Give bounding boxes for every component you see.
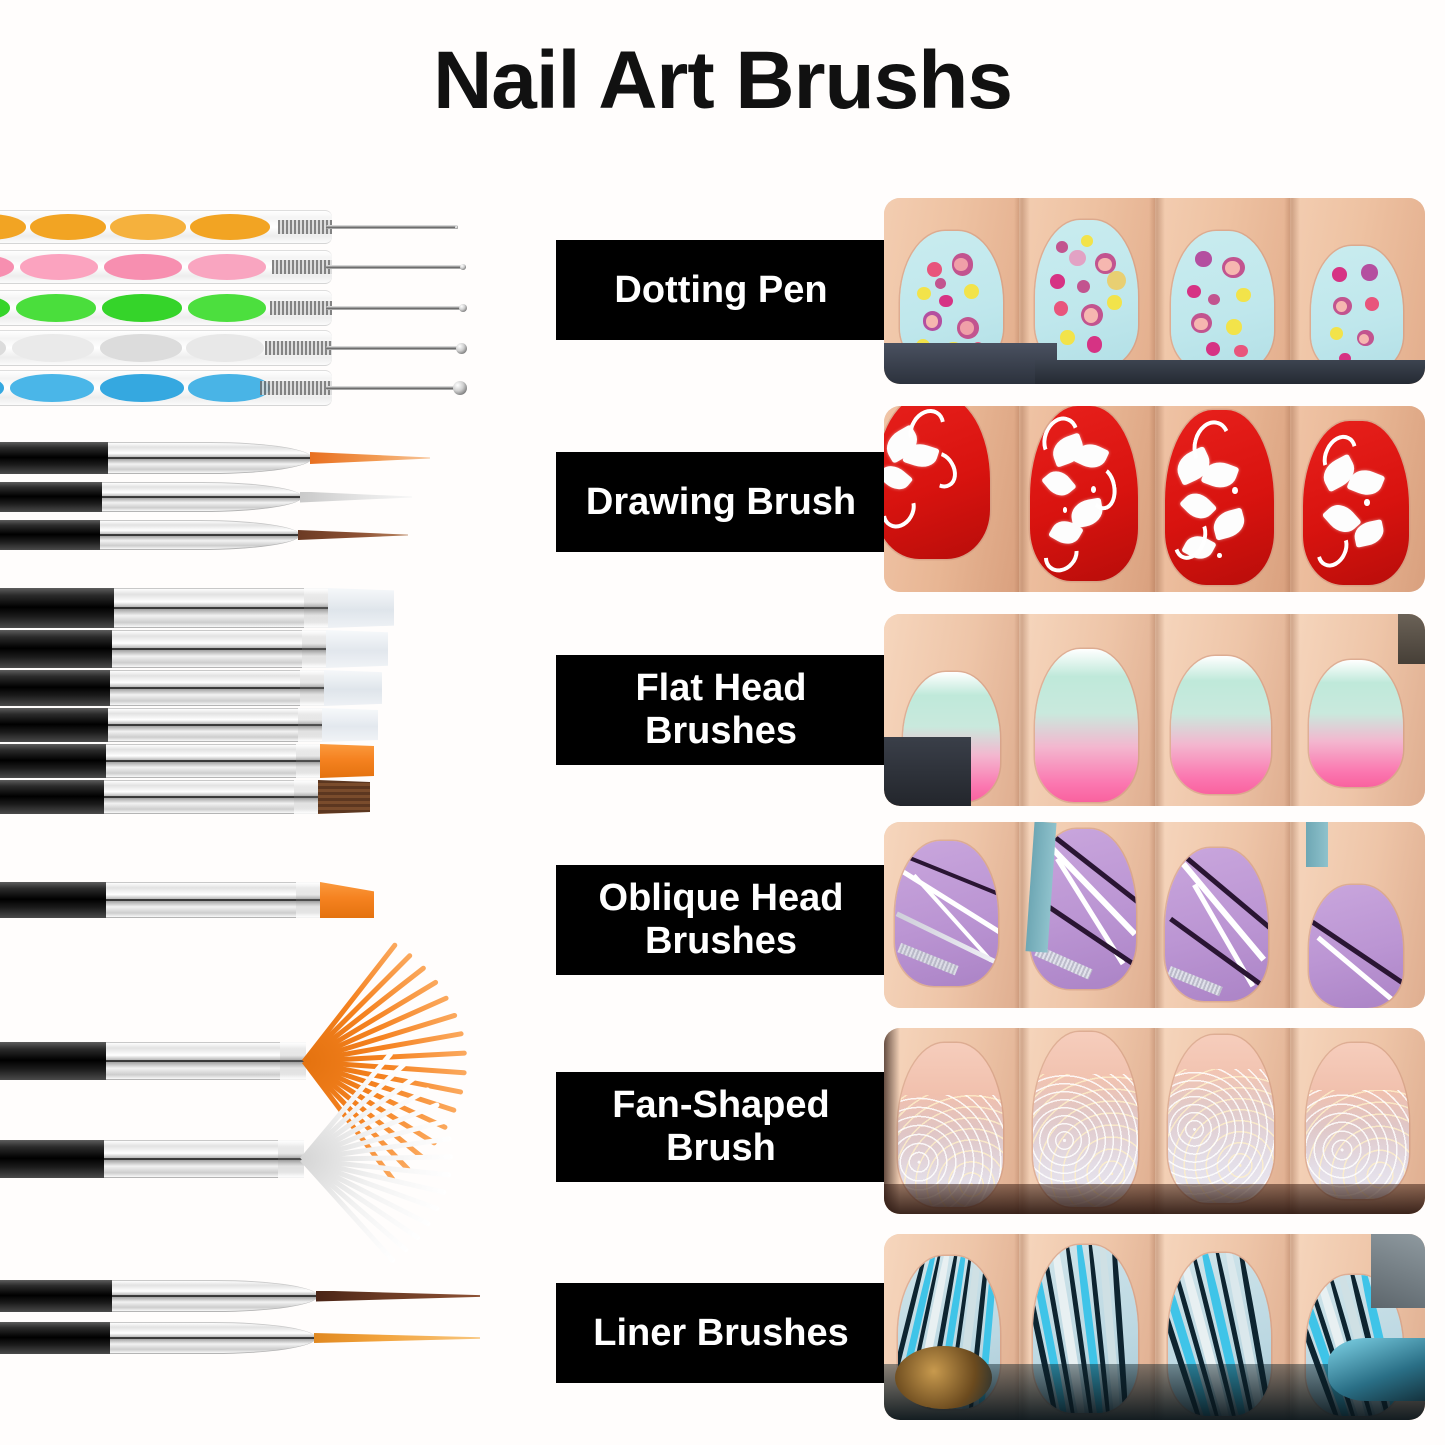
pen-ball-tip-4: [456, 343, 467, 354]
finger: [1019, 406, 1154, 592]
brush-ferrule: [106, 744, 322, 778]
drawing-brush-2: [0, 482, 450, 512]
flat-brush-4: [0, 708, 440, 742]
brush-handle: [0, 780, 108, 814]
label-text: Drawing Brush: [586, 481, 856, 524]
photo-column: [884, 190, 1425, 1425]
dotting-pen-4: [0, 330, 480, 366]
fan-brush-2: [0, 1140, 460, 1178]
dotting-pen-2: [0, 250, 480, 284]
brush-ferrule: [100, 520, 300, 550]
brush-bristle-tip: [300, 492, 412, 503]
photo-fan-shaped-brush-nails: [884, 1028, 1425, 1214]
photo-drawing-brush-nails: [884, 406, 1425, 592]
brush-handle: [0, 1280, 116, 1312]
liner-brush-2: [0, 1322, 480, 1354]
flat-brush-head: [326, 630, 388, 668]
brush-handle: [0, 1042, 110, 1080]
brush-ferrule: [104, 1140, 304, 1178]
brush-bristle-tip: [298, 530, 408, 540]
infographic-page: Nail Art Brushs: [0, 0, 1445, 1445]
brush-handle: [0, 744, 110, 778]
brush-ferrule: [108, 442, 312, 474]
liner-brush-1: [0, 1280, 480, 1312]
brush-handle: [0, 588, 118, 628]
label-drawing-brush: Drawing Brush: [556, 452, 886, 552]
brush-ferrule: [106, 1042, 306, 1080]
pen-shaft: [326, 225, 458, 229]
drawing-brush-illustrations: [0, 438, 545, 568]
pen-twist-core: [0, 374, 270, 401]
flat-brush-2: [0, 630, 440, 668]
label-dotting-pen: Dotting Pen: [556, 240, 886, 340]
brush-handle: [0, 520, 104, 550]
brush-ferrule: [108, 708, 324, 742]
brush-ferrule: [104, 780, 320, 814]
photo-flat-head-brush-nails: [884, 614, 1425, 806]
label-liner-brushes: Liner Brushes: [556, 1283, 886, 1383]
dotting-pen-3: [0, 290, 480, 326]
flat-head-brush-illustrations: [0, 588, 545, 836]
label-text: Flat HeadBrushes: [635, 667, 806, 752]
pen-barrel: [0, 370, 332, 406]
pen-shaft: [326, 386, 460, 390]
pen-ferrule-texture: [270, 301, 332, 315]
flat-brush-5: [0, 744, 440, 778]
oblique-brush-head: [320, 882, 374, 918]
brush-handle: [0, 1140, 108, 1178]
brush-ferrule: [114, 588, 330, 628]
brush-crimp: [298, 708, 324, 742]
brush-crimp: [280, 1042, 306, 1080]
brush-illustration-column: [0, 190, 545, 1425]
finger: [1290, 406, 1425, 592]
brush-crimp: [278, 1140, 304, 1178]
dotting-pen-illustrations: [0, 204, 545, 402]
brush-handle: [0, 630, 116, 668]
label-text: Liner Brushes: [593, 1312, 849, 1355]
brush-ferrule: [112, 1280, 318, 1312]
flat-brush-head: [322, 708, 378, 742]
brush-crimp: [294, 780, 320, 814]
finger: [884, 822, 1019, 1008]
drawing-brush-1: [0, 442, 460, 474]
photo-oblique-head-brush-nails: [884, 822, 1425, 1008]
pen-twist-core: [0, 334, 264, 361]
pen-twist-core: [0, 294, 266, 321]
pen-ball-tip-2: [460, 264, 466, 270]
flat-brush-head: [324, 670, 382, 706]
brush-ferrule: [110, 1322, 316, 1354]
oblique-brush-1: [0, 882, 440, 918]
drawing-brush-3: [0, 520, 450, 550]
brush-crimp: [296, 744, 322, 778]
brush-handle: [0, 882, 110, 918]
finger: [1290, 198, 1425, 384]
pen-ferrule-texture: [272, 260, 332, 274]
brush-ferrule: [110, 670, 326, 706]
brush-ferrule: [106, 882, 322, 918]
pen-ball-tip-1: [455, 226, 458, 229]
pen-barrel: [0, 250, 332, 284]
dotting-pen-1: [0, 210, 465, 244]
flat-brush-head: [320, 744, 374, 778]
oblique-head-brush-illustrations: [0, 876, 545, 936]
photo-dotting-pen-nails: [884, 198, 1425, 384]
pen-barrel: [0, 210, 332, 244]
finger: [1155, 822, 1290, 1008]
pen-shaft: [326, 265, 466, 269]
flat-brush-6: [0, 780, 440, 814]
flat-brush-head: [328, 588, 394, 628]
liner-brush-illustrations: [0, 1278, 545, 1398]
brush-bristle-tip: [310, 452, 430, 464]
pen-shaft: [326, 306, 466, 310]
brush-handle: [0, 1322, 114, 1354]
finger: [884, 406, 1019, 592]
pen-ferrule-texture: [265, 341, 332, 355]
page-title: Nail Art Brushs: [0, 40, 1445, 122]
brush-handle: [0, 708, 112, 742]
brush-crimp: [296, 882, 322, 918]
finger: [1019, 614, 1154, 806]
finger: [1155, 614, 1290, 806]
pen-ferrule-texture: [278, 220, 332, 234]
liner-bristle-tip: [316, 1291, 480, 1302]
pen-ferrule-texture: [260, 381, 332, 395]
brush-ferrule: [112, 630, 328, 668]
label-text: Dotting Pen: [614, 269, 827, 312]
photo-liner-brush-nails: [884, 1234, 1425, 1420]
finger: [1155, 198, 1290, 384]
fan-shaped-brush-illustrations: [0, 968, 545, 1248]
flat-brush-head: [318, 780, 370, 814]
dotting-pen-5: [0, 370, 485, 406]
label-column: Dotting Pen Drawing Brush Flat HeadBrush…: [556, 190, 886, 1425]
pen-ball-tip-3: [459, 304, 467, 312]
label-text: Fan-ShapedBrush: [612, 1084, 829, 1169]
finger: [1155, 406, 1290, 592]
brush-crimp: [304, 588, 330, 628]
pen-barrel: [0, 330, 332, 366]
brush-handle: [0, 670, 114, 706]
flat-brush-1: [0, 588, 440, 628]
flat-brush-3: [0, 670, 440, 706]
label-fan-shaped-brush: Fan-ShapedBrush: [556, 1072, 886, 1182]
liner-bristle-tip: [314, 1333, 480, 1343]
brush-crimp: [302, 630, 328, 668]
label-text: Oblique HeadBrushes: [599, 877, 844, 962]
pen-twist-core: [0, 254, 266, 280]
brush-crimp: [300, 670, 326, 706]
pen-barrel: [0, 290, 332, 326]
label-flat-head-brushes: Flat HeadBrushes: [556, 655, 886, 765]
brush-handle: [0, 442, 112, 474]
pen-twist-core: [0, 214, 270, 240]
label-oblique-head-brushes: Oblique HeadBrushes: [556, 865, 886, 975]
brush-ferrule: [102, 482, 302, 512]
pen-shaft: [326, 346, 462, 350]
brush-handle: [0, 482, 106, 512]
pen-ball-tip-5: [453, 381, 467, 395]
